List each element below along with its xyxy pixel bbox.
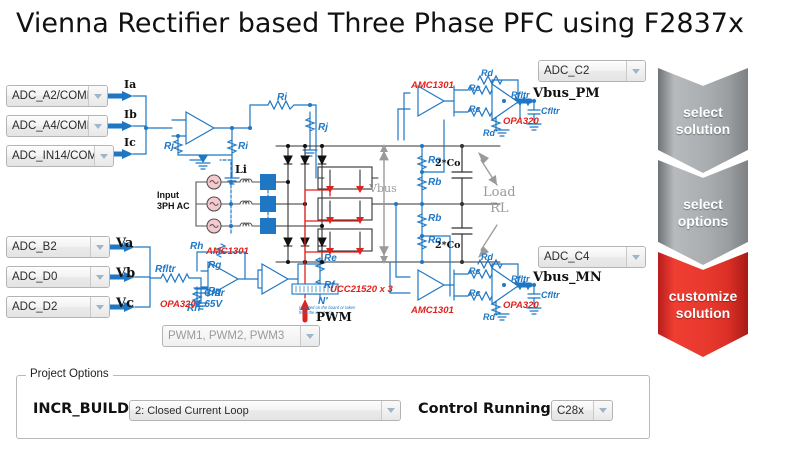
signal-label-vbus-mn: Vbus_MN — [533, 270, 602, 285]
chevron-select-solution-line2: solution — [658, 121, 748, 138]
adc-select-ib-value: ADC_A4/COMP2+ — [7, 116, 88, 136]
pwm-label: PWM — [316, 310, 352, 324]
chevron-down-icon[interactable] — [94, 146, 113, 166]
isolated-amp-label-lower: AMC1301 — [411, 305, 454, 316]
chevron-down-icon[interactable] — [88, 86, 107, 106]
load-label-line2: RL — [490, 201, 508, 216]
resistor-label-rd-top-fb: Rd — [481, 68, 493, 78]
page-title: Vienna Rectifier based Three Phase PFC u… — [0, 8, 760, 39]
adc-select-vb[interactable]: ADC_D0 — [6, 266, 110, 288]
incr-build-select[interactable]: 2: Closed Current Loop — [129, 400, 401, 421]
control-running-select[interactable]: C28x — [551, 400, 613, 421]
chevron-down-icon[interactable] — [626, 61, 645, 81]
cap-label-co-bot: 2*Co — [435, 240, 460, 251]
gate-driver-label: UCC21520 x 3 — [330, 284, 393, 295]
signal-label-ic: Ic — [124, 136, 136, 149]
signal-label-vc: Vc — [116, 296, 134, 311]
chevron-down-icon[interactable] — [90, 297, 109, 317]
resistor-label-rg-bot: Rg — [208, 286, 221, 297]
chevron-customize-solution-line1: customize — [658, 288, 748, 305]
chevron-select-solution-line1: select — [658, 104, 748, 121]
resistor-label-rh-top: Rh — [190, 241, 203, 252]
adc-select-vb-value: ADC_D0 — [7, 267, 90, 287]
resistor-label-rc-top-1: Rc — [469, 83, 481, 93]
isolated-amp-label-lower-left: AMC1301 — [206, 246, 249, 257]
chevron-down-icon[interactable] — [626, 247, 645, 267]
chevron-down-icon[interactable] — [90, 267, 109, 287]
pwm-select[interactable]: PWM1, PWM2, PWM3 — [162, 325, 320, 347]
signal-label-va: Va — [116, 236, 133, 251]
resistor-label-ri-gnd: Ri — [238, 141, 248, 152]
adc-select-ia[interactable]: ADC_A2/COMP1+ — [6, 85, 108, 107]
bias-voltage-label: 1.65V — [196, 299, 222, 310]
signal-label-ia: Ia — [124, 78, 136, 91]
chevron-select-solution[interactable]: select solution — [658, 68, 748, 173]
adc-select-va[interactable]: ADC_B2 — [6, 236, 110, 258]
resistor-label-ri-top: Ri — [277, 92, 287, 103]
adc-select-vbus-pm[interactable]: ADC_C2 — [538, 60, 646, 82]
signal-label-ib: Ib — [124, 108, 137, 121]
chevron-down-icon[interactable] — [593, 401, 612, 420]
cap-label-cfltr-top: Cfltr — [541, 106, 560, 116]
cap-label-cfltr-bot: Cfltr — [541, 290, 560, 300]
resistor-label-rfltr-top: Rfltr — [511, 90, 530, 100]
chevron-select-options-line1: select — [658, 196, 748, 213]
resistor-label-rc-top-2: Rc — [469, 104, 481, 114]
input-source-line1: Input — [157, 190, 179, 200]
adc-select-ic-value: ADC_IN14/COMP4+ — [7, 146, 94, 166]
vbus-label: Vbus — [369, 182, 397, 195]
adc-select-vc[interactable]: ADC_D2 — [6, 296, 110, 318]
resistor-label-rfltr-bot: Rfltr — [511, 274, 530, 284]
control-running-select-value: C28x — [552, 401, 593, 420]
resistor-label-rj-gnd: Rj — [318, 122, 328, 133]
load-label: Load RL — [483, 185, 516, 217]
signal-label-vbus-pm: Vbus_PM — [533, 86, 600, 101]
resistor-label-rc-bot-1: Rc — [469, 266, 481, 276]
incr-build-label: INCR_BUILD — [33, 401, 129, 417]
input-source-line2: 3PH AC — [157, 201, 190, 211]
resistor-label-rfltr-v: Rfltr — [155, 264, 176, 275]
chevron-down-icon[interactable] — [300, 326, 319, 346]
adc-select-ib[interactable]: ADC_A4/COMP2+ — [6, 115, 108, 137]
adc-select-va-value: ADC_B2 — [7, 237, 90, 257]
pwm-select-value: PWM1, PWM2, PWM3 — [163, 326, 300, 346]
app-root: Vienna Rectifier based Three Phase PFC u… — [0, 0, 795, 451]
opamp-label-lower-left: OPA320 — [160, 299, 196, 310]
chevron-select-options[interactable]: select options — [658, 160, 748, 265]
isolated-amp-label-upper: AMC1301 — [411, 80, 454, 91]
resistor-label-rd-bot-gnd: Rd — [483, 312, 495, 322]
resistor-label-rb-top: Rb — [428, 177, 441, 188]
adc-select-vbus-mn-value: ADC_C4 — [539, 247, 626, 267]
resistor-label-rc-bot-2: Rc — [469, 288, 481, 298]
chevron-down-icon[interactable] — [90, 237, 109, 257]
inductor-label-li: Li — [235, 163, 247, 176]
chevron-customize-solution-line2: solution — [658, 305, 748, 322]
resistor-label-rj-fb: Rj — [164, 141, 174, 152]
input-source-label: Input 3PH AC — [157, 190, 190, 212]
chevron-down-icon[interactable] — [381, 401, 400, 420]
adc-select-vbus-pm-value: ADC_C2 — [539, 61, 626, 81]
opamp-label-upper-right: OPA320 — [503, 116, 539, 127]
adc-select-ic[interactable]: ADC_IN14/COMP4+ — [6, 145, 114, 167]
chevron-customize-solution[interactable]: customize solution — [658, 252, 748, 357]
resistor-label-rd-top-gnd: Rd — [483, 128, 495, 138]
adc-select-vc-value: ADC_D2 — [7, 297, 90, 317]
chevron-down-icon[interactable] — [88, 116, 107, 136]
signal-label-vb: Vb — [116, 266, 135, 281]
adc-select-ia-value: ADC_A2/COMP1+ — [7, 86, 88, 106]
adc-select-vbus-mn[interactable]: ADC_C4 — [538, 246, 646, 268]
resistor-label-rg-top: Rg — [208, 260, 221, 271]
chevron-select-options-line2: options — [658, 213, 748, 230]
project-options-legend: Project Options — [26, 368, 113, 380]
resistor-label-rb-bot: Rb — [428, 213, 441, 224]
cap-label-co-top: 2*Co — [435, 158, 460, 169]
resistor-label-rd-bot-fb: Rd — [481, 252, 493, 262]
load-label-line1: Load — [483, 185, 516, 200]
incr-build-select-value: 2: Closed Current Loop — [130, 401, 381, 420]
resistor-label-re: Re — [324, 253, 337, 264]
opamp-label-lower-right: OPA320 — [503, 300, 539, 311]
